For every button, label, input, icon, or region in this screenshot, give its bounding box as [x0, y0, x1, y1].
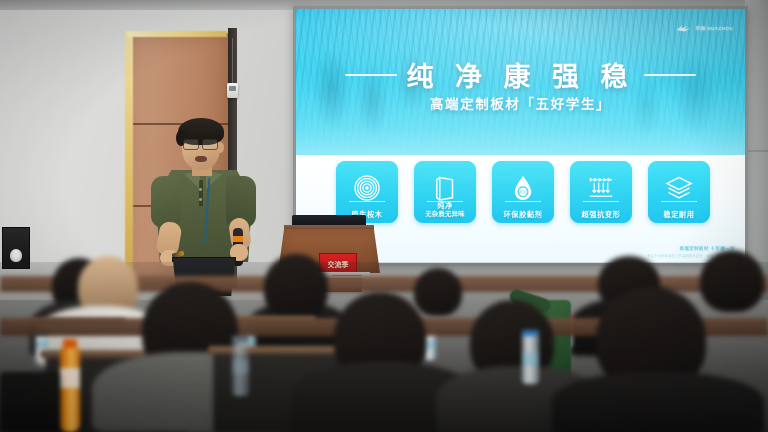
- orange-soda-bottle: [60, 346, 80, 432]
- water-bottle: [522, 330, 539, 384]
- glasses-lens-right: [202, 139, 218, 150]
- soda-bottle-label: [60, 368, 80, 388]
- audience-head: [700, 250, 764, 312]
- card-label: 稳定耐用: [648, 211, 710, 219]
- pillar-gold-trim: [125, 31, 133, 285]
- microphone-orange-band: [233, 236, 243, 242]
- bottle-label: [232, 360, 249, 374]
- card-divider: [661, 201, 697, 202]
- glasses-lens-left: [183, 139, 199, 150]
- card-label: 纯净 无杂质无异味: [414, 202, 476, 219]
- slide-headline-row: 纯 净 康 强 稳: [296, 55, 745, 94]
- water-bottle: [232, 336, 249, 396]
- pillar-top-trim: [127, 31, 227, 37]
- bird-logo-icon: [676, 24, 692, 33]
- presenter-button-lower: [199, 198, 202, 201]
- speaker-cone: [10, 249, 22, 262]
- card-label: 超强抗变形: [570, 211, 632, 219]
- stacked-layers-icon: [664, 173, 694, 203]
- right-wall-seam: [745, 150, 768, 152]
- sensor-cord: [232, 38, 233, 84]
- card-label-line1: 环保胶黏剂: [504, 210, 543, 219]
- feature-card: VOC 环保胶黏剂: [492, 161, 554, 223]
- wood-grain-rings-icon: [352, 173, 382, 203]
- card-label-line1: 超强抗变形: [582, 210, 621, 219]
- presenter-placket: [199, 180, 203, 206]
- glasses-icon: [183, 139, 219, 148]
- brand-logo: 华洲 HUAZHOU: [676, 24, 733, 33]
- card-label-line1: 稳定耐用: [663, 210, 694, 219]
- card-label-line2: 无杂质无异味: [414, 211, 476, 219]
- bottle-label: [522, 352, 539, 366]
- feature-card: 稳定耐用: [648, 161, 710, 223]
- presenter-mouth: [195, 156, 207, 162]
- slide-headline: 纯 净 康 强 稳: [406, 55, 634, 94]
- bottle-cap: [522, 330, 539, 336]
- glasses-bridge: [197, 143, 202, 144]
- svg-text:VOC: VOC: [518, 189, 529, 194]
- bottle-label: [36, 340, 48, 349]
- audience-head: [264, 254, 328, 320]
- card-label-line1: 纯净: [437, 201, 453, 210]
- presentation-photo-scene: 华洲 HUAZHOU 纯 净 康 强 稳 高端定制板材「五好学生」 原生桉木: [0, 0, 768, 432]
- soda-bottle-cap: [63, 339, 77, 348]
- card-divider: [349, 201, 385, 202]
- feature-card-row: 原生桉木 纯净 无杂质无异味 VOC: [336, 161, 710, 223]
- board-panel-icon: [430, 173, 460, 203]
- feature-card: 超强抗变形: [570, 161, 632, 223]
- presenter-button-upper: [199, 188, 202, 191]
- slide-subheadline: 高端定制板材「五好学生」: [296, 93, 745, 113]
- presenter-sleeve-left: [151, 176, 181, 228]
- feature-card: 纯净 无杂质无异味: [414, 161, 476, 223]
- brand-name: 华洲 HUAZHOU: [696, 26, 733, 32]
- audience-head: [414, 268, 462, 316]
- feature-card: 原生桉木: [336, 161, 398, 223]
- compression-arrows-icon: [586, 173, 616, 203]
- card-divider: [505, 201, 541, 202]
- card-label: 环保胶黏剂: [492, 211, 554, 219]
- bottle-cap: [232, 336, 249, 342]
- card-divider: [583, 201, 619, 202]
- audience-shoulders: [552, 372, 764, 432]
- ceiling-sensor-icon: [227, 83, 238, 98]
- headline-rule-right: [644, 74, 696, 76]
- chair-back: [0, 372, 60, 432]
- headline-rule-left: [345, 74, 397, 76]
- water-droplet-voc-icon: VOC: [508, 173, 538, 203]
